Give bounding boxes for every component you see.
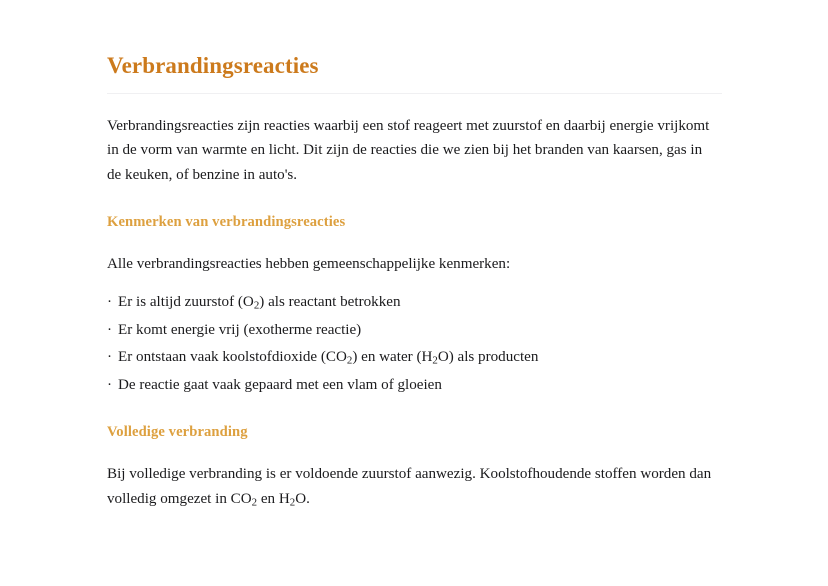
text-run: ) als reactant betrokken [259, 294, 400, 310]
intro-paragraph: Verbrandingsreacties zijn reacties waarb… [107, 114, 719, 187]
kenmerken-list: ·Er is altijd zuurstof (O2) als reactant… [107, 290, 719, 397]
section-heading-kenmerken: Kenmerken van verbrandingsreacties [107, 213, 722, 232]
list-item: ·Er is altijd zuurstof (O2) als reactant… [107, 290, 719, 314]
title-divider [107, 93, 722, 94]
text-run: De reactie gaat vaak gepaard met een vla… [118, 377, 442, 393]
list-item: ·Er ontstaan vaak koolstofdioxide (CO2) … [107, 345, 719, 369]
text-run: en H [257, 491, 290, 507]
list-item: ·De reactie gaat vaak gepaard met een vl… [107, 373, 719, 397]
bullet-dot-icon: · [107, 345, 112, 369]
section-heading-volledige-verbranding: Volledige verbranding [107, 423, 722, 442]
page-title: Verbrandingsreacties [107, 52, 722, 81]
text-run: Er komt energie vrij (exotherme reactie) [118, 322, 361, 338]
section-lead-kenmerken: Alle verbrandingsreacties hebben gemeens… [107, 252, 719, 276]
bullet-dot-icon: · [107, 290, 112, 314]
section-paragraph-volledige-verbranding: Bij volledige verbranding is er voldoend… [107, 462, 719, 511]
text-run: O) als producten [438, 349, 539, 365]
text-run: Er is altijd zuurstof (O [118, 294, 254, 310]
bullet-dot-icon: · [107, 373, 112, 397]
text-run: ) en water (H [352, 349, 432, 365]
bullet-dot-icon: · [107, 318, 112, 342]
text-run: Er ontstaan vaak koolstofdioxide (CO [118, 349, 347, 365]
document-page: Verbrandingsreacties Verbrandingsreactie… [0, 0, 828, 586]
text-run: Bij volledige verbranding is er voldoend… [107, 466, 711, 506]
text-run: O. [295, 491, 310, 507]
list-item: ·Er komt energie vrij (exotherme reactie… [107, 318, 719, 342]
